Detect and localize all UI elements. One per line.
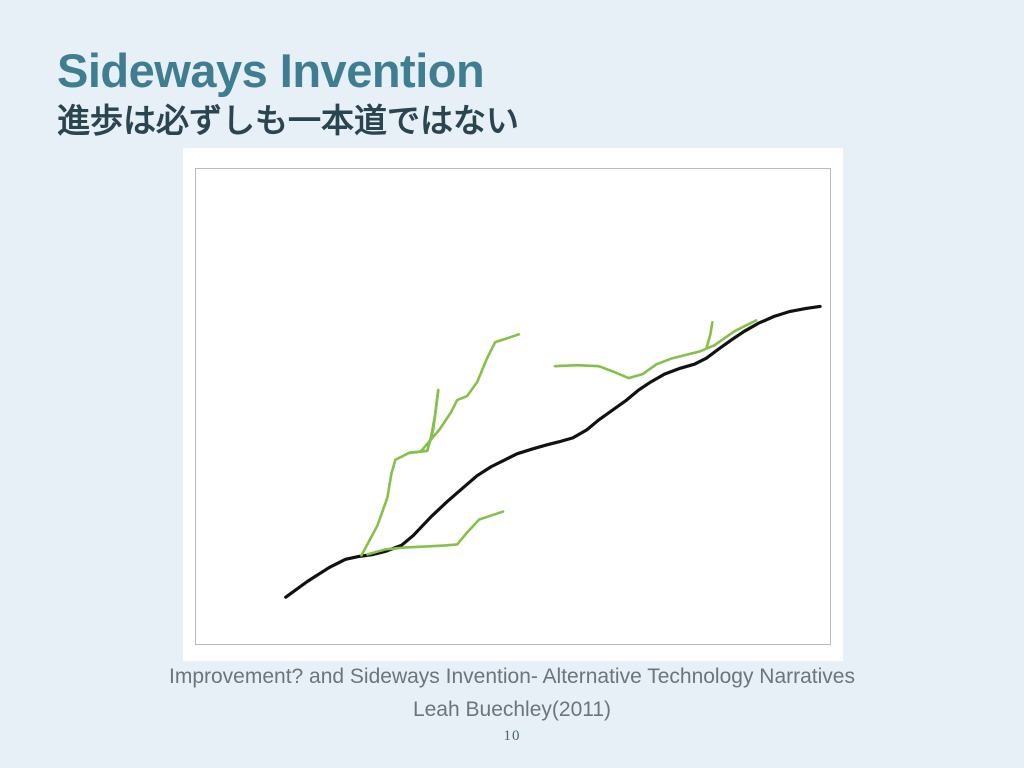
chart-frame	[195, 168, 831, 645]
caption-line-2: Leah Buechley(2011)	[0, 693, 1024, 726]
caption-line-1: Improvement? and Sideways Invention- Alt…	[0, 660, 1024, 693]
slide-canvas: Sideways Invention 進歩は必ずしも一本道ではない Improv…	[0, 0, 1024, 768]
chart-series-mainstream-progress-line	[286, 306, 820, 597]
sideways-invention-line-chart	[196, 169, 830, 644]
chart-series-green-branch-right-long	[555, 320, 756, 378]
chart-series-green-branch-left-upper-hook	[409, 390, 438, 453]
slide-header: Sideways Invention 進歩は必ずしも一本道ではない	[57, 44, 957, 141]
page-title: Sideways Invention	[57, 44, 957, 97]
figure-caption: Improvement? and Sideways Invention- Alt…	[0, 660, 1024, 726]
chart-series-green-branch-lower-right	[367, 512, 503, 555]
chart-series-green-branch-right-spur	[706, 322, 712, 348]
figure-panel	[183, 148, 843, 661]
chart-series-green-branch-center-tall	[421, 334, 519, 451]
page-number: 10	[0, 728, 1024, 745]
chart-series-green-branch-left-tall	[361, 390, 438, 555]
page-subtitle: 進歩は必ずしも一本道ではない	[57, 101, 957, 141]
